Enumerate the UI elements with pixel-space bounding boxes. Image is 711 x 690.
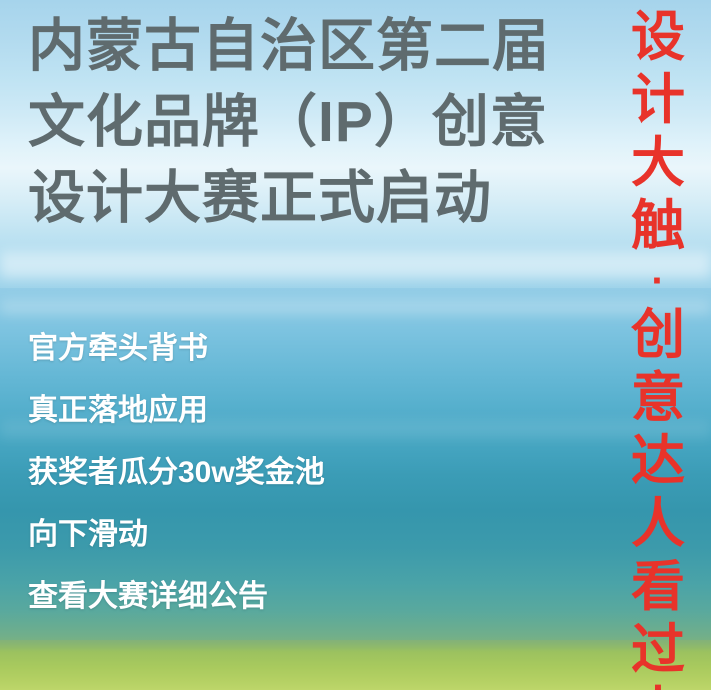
slogan-char-1: 设 bbox=[631, 6, 685, 69]
headline-line-1: 内蒙古自治区第二届 bbox=[28, 8, 588, 84]
headline-block: 内蒙古自治区第二届 文化品牌（IP）创意 设计大赛正式启动 bbox=[28, 8, 588, 236]
slogan-char-10: 过 bbox=[631, 619, 685, 682]
bullet-item-1: 官方牵头背书 bbox=[28, 318, 588, 380]
slogan-char-9: 看 bbox=[631, 556, 685, 619]
grass-background bbox=[0, 640, 711, 690]
headline-line-3: 设计大赛正式启动 bbox=[28, 160, 588, 236]
vertical-slogan: 设 计 大 触 · 创 意 达 人 看 过 来 bbox=[619, 6, 697, 690]
headline-line-2: 文化品牌（IP）创意 bbox=[28, 84, 588, 160]
bullet-list: 官方牵头背书 真正落地应用 获奖者瓜分30w奖金池 向下滑动 查看大赛详细公告 bbox=[28, 318, 588, 628]
slogan-char-11: 来 bbox=[631, 682, 685, 690]
slogan-char-6: 意 bbox=[631, 367, 685, 430]
haze-band bbox=[0, 300, 711, 314]
bullet-item-3: 获奖者瓜分30w奖金池 bbox=[28, 442, 588, 504]
bullet-item-2: 真正落地应用 bbox=[28, 380, 588, 442]
haze-band bbox=[0, 252, 711, 278]
slogan-char-4: 触 bbox=[631, 195, 685, 258]
slogan-char-7: 达 bbox=[631, 430, 685, 493]
slogan-char-3: 大 bbox=[631, 132, 685, 195]
slogan-char-5: 创 bbox=[631, 304, 685, 367]
bullet-item-4: 向下滑动 bbox=[28, 504, 588, 566]
slogan-separator-dot: · bbox=[651, 258, 664, 304]
slogan-char-2: 计 bbox=[631, 69, 685, 132]
slogan-char-8: 人 bbox=[631, 493, 685, 556]
poster-image: 内蒙古自治区第二届 文化品牌（IP）创意 设计大赛正式启动 官方牵头背书 真正落… bbox=[0, 0, 711, 690]
bullet-item-5: 查看大赛详细公告 bbox=[28, 566, 588, 628]
